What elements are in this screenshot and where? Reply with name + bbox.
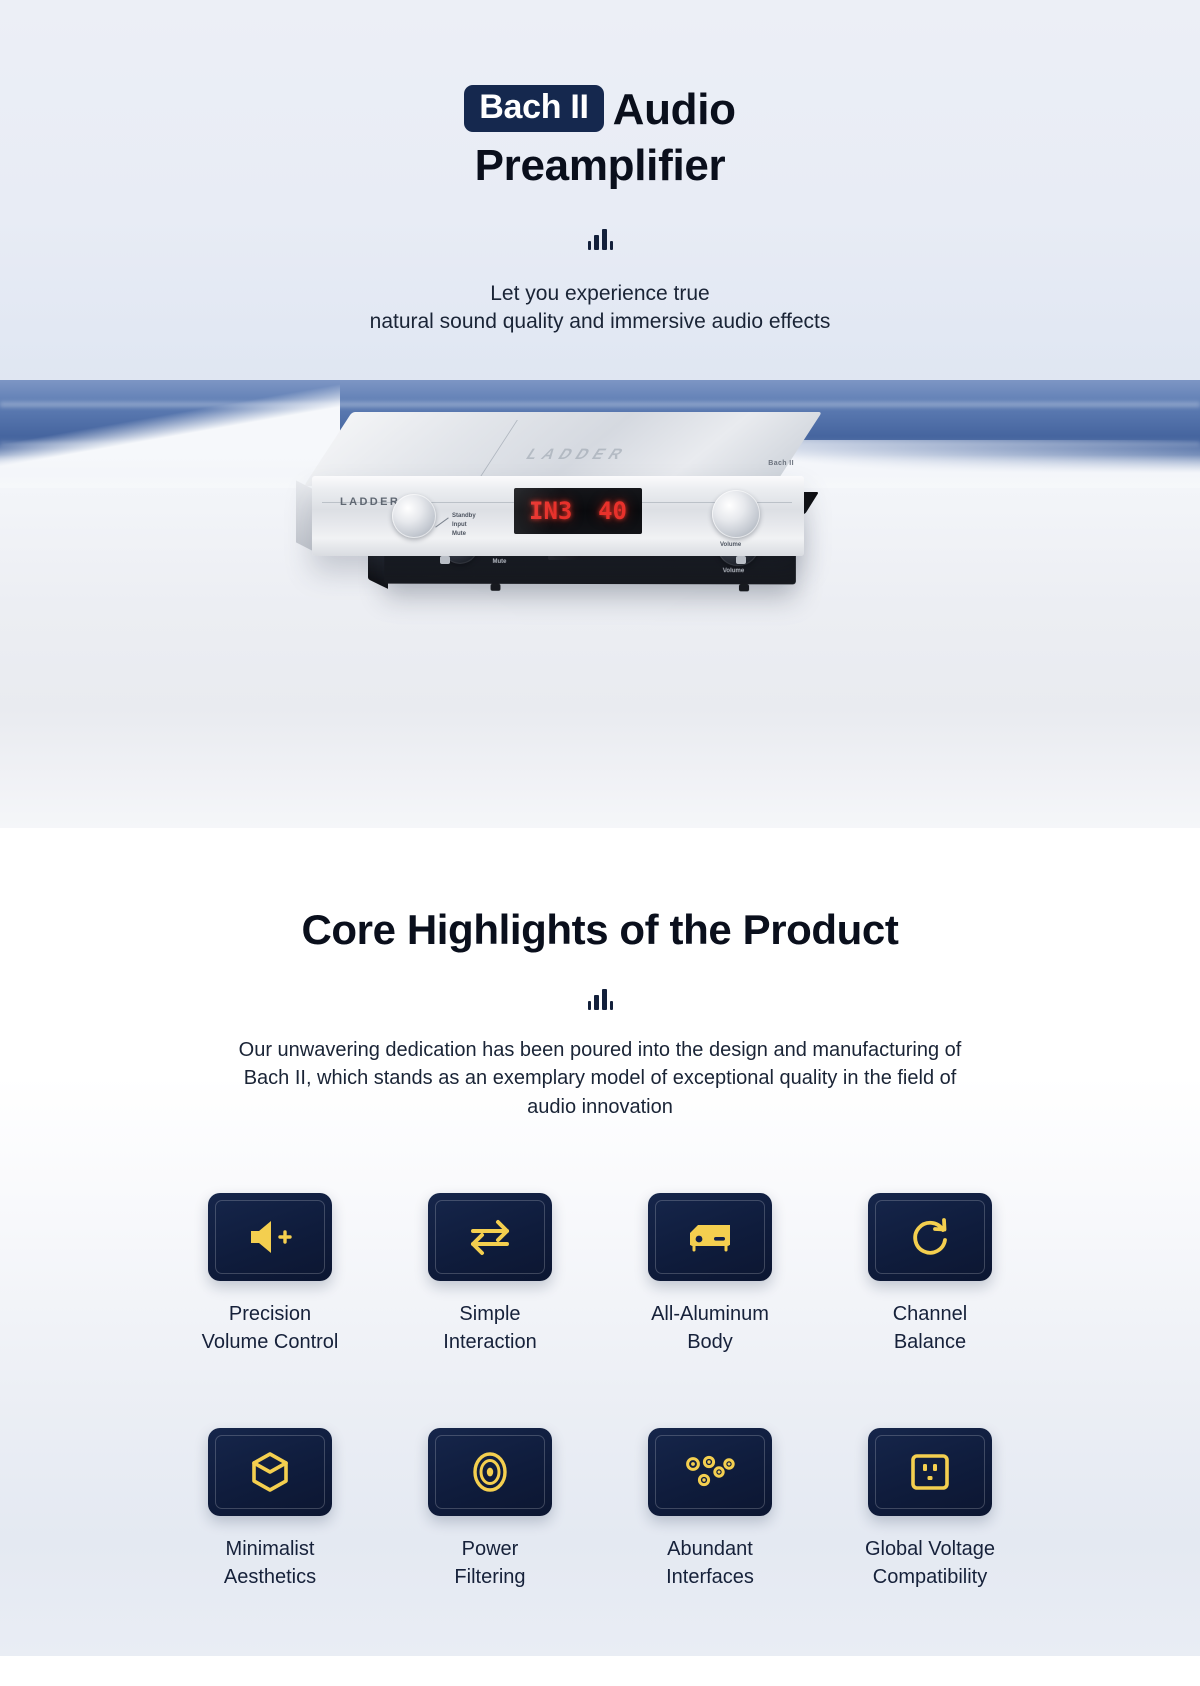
product-landing-page: Bach IIAudio Preamplifier Let you experi… xyxy=(0,0,1200,1656)
feature-item-minimalist-aesthetics[interactable]: Minimalist Aesthetics xyxy=(160,1428,380,1591)
unit-foot-black xyxy=(491,584,501,591)
cube-box-icon xyxy=(249,1450,291,1494)
brand-logo-silver: LADDER xyxy=(340,496,400,508)
silver-unit-front-panel: LADDER Standby Input Mute IN3 40 Volume … xyxy=(312,476,804,556)
feature-tile xyxy=(208,1193,332,1281)
volume-knob-silver[interactable] xyxy=(712,490,760,538)
power-socket-icon xyxy=(908,1451,952,1493)
display-input-silver: IN3 xyxy=(529,497,572,525)
feature-label: Simple Interaction xyxy=(443,1301,536,1356)
product-photo: LADDER Standby Input Mute IN3 40 Volume … xyxy=(0,396,1200,726)
feature-label: Power Filtering xyxy=(454,1536,525,1591)
section-description: Our unwavering dedication has been poure… xyxy=(220,1036,980,1121)
section-title: Core Highlights of the Product xyxy=(0,906,1200,954)
hero-subtitle: Let you experience true natural sound qu… xyxy=(0,280,1200,337)
transfer-arrows-icon xyxy=(467,1217,513,1257)
feature-item-channel-balance[interactable]: Channel Balance xyxy=(820,1193,1040,1356)
feature-label: Abundant Interfaces xyxy=(666,1536,754,1591)
equalizer-bars-icon-2 xyxy=(580,988,620,1010)
page-title: Bach IIAudio xyxy=(0,82,1200,138)
feature-label: Precision Volume Control xyxy=(202,1301,339,1356)
feature-tile xyxy=(428,1193,552,1281)
page-title-audio: Audio xyxy=(613,85,736,134)
feature-label: Channel Balance xyxy=(893,1301,968,1356)
feature-tile xyxy=(428,1428,552,1516)
product-name-badge: Bach II xyxy=(464,85,603,133)
control-lead-line-silver xyxy=(435,517,449,527)
feature-item-global-voltage-compatibility[interactable]: Global Voltage Compatibility xyxy=(820,1428,1040,1591)
feature-grid: Precision Volume Control Simple Interact… xyxy=(160,1193,1040,1591)
chassis-body-icon xyxy=(684,1217,736,1257)
volume-label-silver: Volume xyxy=(720,542,741,548)
feature-item-precision-volume-control[interactable]: Precision Volume Control xyxy=(160,1193,380,1356)
refresh-cycle-icon xyxy=(908,1216,952,1258)
product-unit-silver: LADDER LADDER Standby Input Mute IN3 40 … xyxy=(312,412,812,532)
embossed-brand-logo: LADDER xyxy=(521,446,704,466)
feature-tile xyxy=(648,1193,772,1281)
target-disc-icon xyxy=(469,1450,511,1494)
ports-cluster-icon xyxy=(684,1451,736,1493)
core-highlights-section: Core Highlights of the Product Our unwav… xyxy=(0,828,1200,1656)
feature-tile xyxy=(868,1428,992,1516)
volume-plus-icon xyxy=(247,1217,293,1257)
feature-label: All-Aluminum Body xyxy=(651,1301,769,1356)
equalizer-bars-icon xyxy=(580,228,620,250)
unit-foot-black-2 xyxy=(739,584,749,591)
feature-item-simple-interaction[interactable]: Simple Interaction xyxy=(380,1193,600,1356)
feature-tile xyxy=(868,1193,992,1281)
feature-item-abundant-interfaces[interactable]: Abundant Interfaces xyxy=(600,1428,820,1591)
input-knob-silver[interactable] xyxy=(392,494,436,538)
hero-section: Bach IIAudio Preamplifier Let you experi… xyxy=(0,0,1200,828)
display-volume-silver: 40 xyxy=(598,497,627,525)
page-title-line2: Preamplifier xyxy=(0,138,1200,194)
hero-subtitle-line2: natural sound quality and immersive audi… xyxy=(370,310,831,333)
model-tag-silver: Bach II xyxy=(768,460,794,467)
feature-label: Minimalist Aesthetics xyxy=(224,1536,316,1591)
control-labels-silver: Standby Input Mute xyxy=(452,512,476,539)
display-screen-silver: IN3 40 xyxy=(514,488,642,534)
unit-foot-silver-2 xyxy=(736,556,746,564)
feature-tile xyxy=(648,1428,772,1516)
feature-item-all-aluminum-body[interactable]: All-Aluminum Body xyxy=(600,1193,820,1356)
hero-subtitle-line1: Let you experience true xyxy=(490,282,709,305)
volume-label-black: Volume xyxy=(723,568,745,574)
feature-tile xyxy=(208,1428,332,1516)
hero-content: Bach IIAudio Preamplifier Let you experi… xyxy=(0,0,1200,336)
unit-foot-silver xyxy=(440,556,450,564)
feature-item-power-filtering[interactable]: Power Filtering xyxy=(380,1428,600,1591)
feature-label: Global Voltage Compatibility xyxy=(865,1536,995,1591)
